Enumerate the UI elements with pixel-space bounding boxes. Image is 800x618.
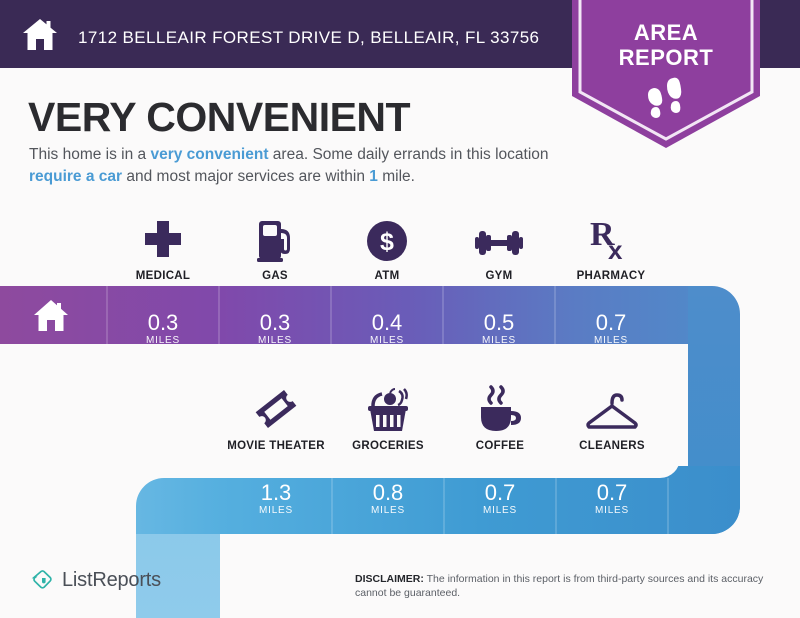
amenity-label: GYM [485, 270, 512, 282]
amenity-icon-row-top: MEDICAL GAS $ ATM [107, 215, 667, 282]
distance-cell: 0.4 MILES [331, 300, 443, 358]
distance-value: 0.7 [596, 312, 627, 334]
clothes-hanger-icon [584, 385, 640, 433]
distance-cell: 0.7 MILES [444, 470, 556, 528]
distance-unit: MILES [259, 505, 293, 516]
badge-line-2: REPORT [566, 45, 766, 70]
distance-value: 0.8 [373, 482, 404, 504]
distance-cell: 0.7 MILES [556, 470, 668, 528]
area-report-infographic: 1712 BELLEAIR FOREST DRIVE D, BELLEAIR, … [0, 0, 800, 618]
distance-unit: MILES [146, 335, 180, 346]
distance-value: 0.4 [372, 312, 403, 334]
area-report-badge: AREA REPORT [566, 0, 766, 150]
summary-highlight-3: 1 [369, 168, 378, 185]
medical-cross-icon [141, 215, 185, 263]
amenity-label: CLEANERS [579, 440, 645, 452]
gas-pump-icon [253, 215, 297, 263]
listreports-tag-icon [30, 568, 54, 592]
disclaimer: DISCLAIMER: The information in this repo… [355, 572, 780, 600]
dollar-coin-icon: $ [365, 215, 409, 263]
amenity-label: GAS [262, 270, 288, 282]
distance-cell: 0.8 MILES [332, 470, 444, 528]
distance-cell: 0.5 MILES [443, 300, 555, 358]
amenity-movie-theater: MOVIE THEATER [220, 385, 332, 452]
amenity-label: MEDICAL [136, 270, 191, 282]
summary-highlight-1: very convenient [150, 146, 268, 163]
summary-highlight-2: require a car [29, 168, 122, 185]
amenity-label: PHARMACY [577, 270, 646, 282]
coffee-cup-icon [475, 385, 525, 433]
grocery-basket-icon [363, 385, 413, 433]
distance-value: 0.7 [597, 482, 628, 504]
disclaimer-label: DISCLAIMER: [355, 573, 424, 585]
amenity-label: COFFEE [476, 440, 524, 452]
summary-part-2: area. Some daily errands in this locatio… [269, 146, 549, 163]
amenity-coffee: COFFEE [444, 385, 556, 452]
amenity-gym: GYM [443, 215, 555, 282]
amenity-label: GROCERIES [352, 440, 424, 452]
distance-cell: 1.3 MILES [220, 470, 332, 528]
amenity-label: MOVIE THEATER [227, 440, 325, 452]
summary-part-4: mile. [378, 168, 415, 185]
svg-text:x: x [608, 235, 623, 263]
house-icon [22, 17, 58, 51]
distance-value: 0.3 [260, 312, 291, 334]
dumbbell-icon [474, 215, 524, 263]
distance-cell: 0.3 MILES [219, 300, 331, 358]
distance-value: 0.5 [484, 312, 515, 334]
distance-cell: 0.3 MILES [107, 300, 219, 358]
amenity-icon-row-bottom: MOVIE THEATER [220, 385, 668, 452]
distance-unit: MILES [371, 505, 405, 516]
logo-wordmark: ListReports [62, 569, 161, 592]
distance-unit: MILES [594, 335, 628, 346]
distance-row-top: 0.3 MILES 0.3 MILES 0.4 MILES 0.5 MILES … [107, 300, 667, 358]
badge-line-1: AREA [566, 20, 766, 45]
amenity-atm: $ ATM [331, 215, 443, 282]
movie-ticket-icon [252, 385, 300, 433]
distance-unit: MILES [370, 335, 404, 346]
summary-text: This home is in a very convenient area. … [29, 144, 574, 188]
listreports-logo: ListReports [30, 568, 161, 592]
distance-row-bottom: 1.3 MILES 0.8 MILES 0.7 MILES 0.7 MILES [220, 470, 668, 528]
distance-value: 1.3 [261, 482, 292, 504]
badge-label: AREA REPORT [566, 20, 766, 70]
distance-value: 0.7 [485, 482, 516, 504]
rx-icon: R x [588, 215, 634, 263]
page-title: VERY CONVENIENT [28, 94, 410, 141]
distance-value: 0.3 [148, 312, 179, 334]
distance-unit: MILES [482, 335, 516, 346]
amenity-medical: MEDICAL [107, 215, 219, 282]
property-address: 1712 BELLEAIR FOREST DRIVE D, BELLEAIR, … [78, 28, 539, 48]
distance-unit: MILES [595, 505, 629, 516]
distance-unit: MILES [483, 505, 517, 516]
distance-unit: MILES [258, 335, 292, 346]
amenity-pharmacy: R x PHARMACY [555, 215, 667, 282]
amenity-cleaners: CLEANERS [556, 385, 668, 452]
amenity-groceries: GROCERIES [332, 385, 444, 452]
amenity-label: ATM [375, 270, 400, 282]
svg-text:$: $ [380, 228, 394, 256]
summary-part-1: This home is in a [29, 146, 150, 163]
distance-cell: 0.7 MILES [555, 300, 667, 358]
amenity-gas: GAS [219, 215, 331, 282]
summary-part-3: and most major services are within [122, 168, 369, 185]
